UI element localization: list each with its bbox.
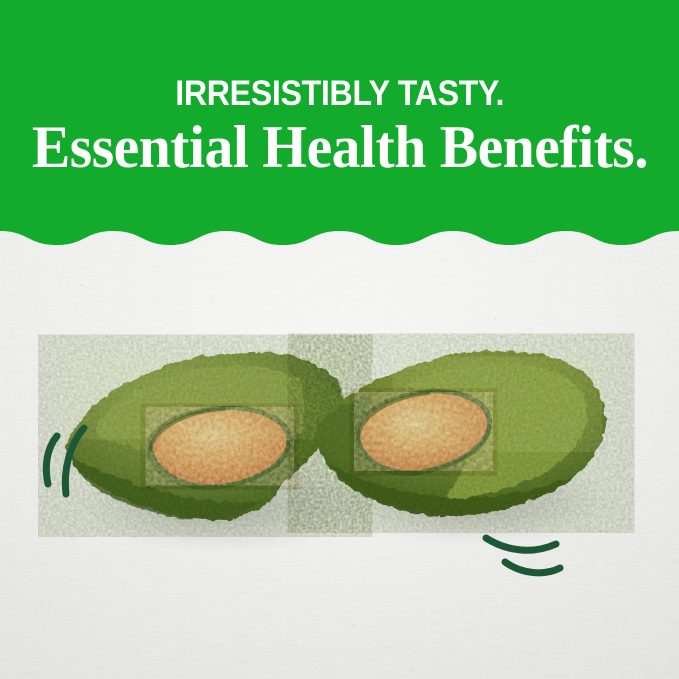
product-photo	[0, 250, 679, 679]
motion-swoosh-right	[486, 538, 560, 573]
band-wave-shape	[0, 0, 679, 245]
headline-band: IRRESISTIBLY TASTY. Essential Health Ben…	[0, 0, 679, 250]
product-banner-screenshot: IRRESISTIBLY TASTY. Essential Health Ben…	[0, 0, 679, 679]
